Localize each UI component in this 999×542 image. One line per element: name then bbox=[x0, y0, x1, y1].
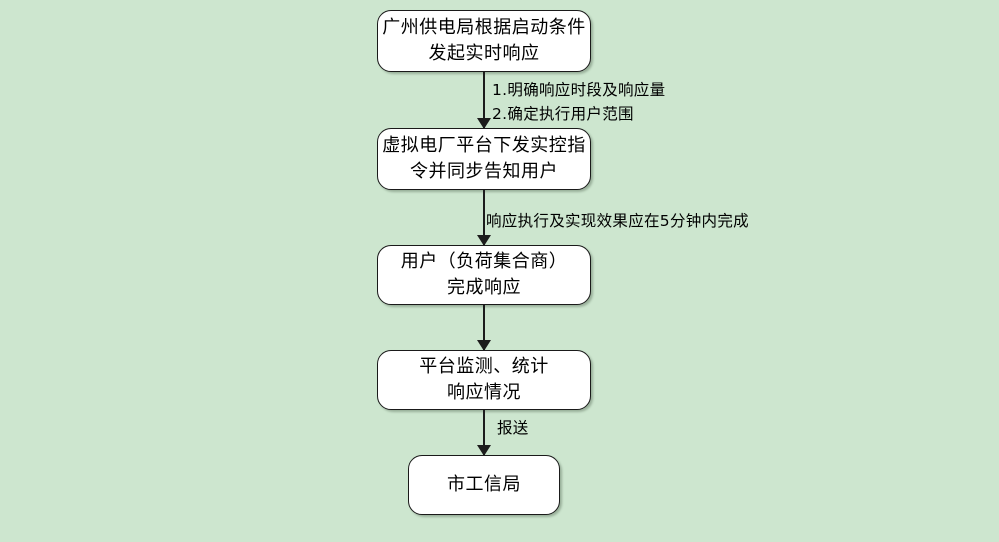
edge-label-line: 1.明确响应时段及响应量 bbox=[492, 81, 665, 99]
process-node-user-completes-response[interactable]: 用户（负荷集合商） 完成响应 bbox=[377, 245, 591, 305]
node-text-line: 发起实时响应 bbox=[429, 41, 540, 67]
node-text-line: 虚拟电厂平台下发实控指 bbox=[382, 133, 586, 159]
node-text-line: 市工信局 bbox=[447, 472, 521, 498]
flowchart-canvas: 广州供电局根据启动条件 发起实时响应 1.明确响应时段及响应量 2.确定执行用户… bbox=[0, 0, 999, 542]
node-text-line: 广州供电局根据启动条件 bbox=[382, 15, 586, 41]
edge-label-requirements: 1.明确响应时段及响应量 2.确定执行用户范围 bbox=[492, 78, 665, 126]
node-text-line: 完成响应 bbox=[447, 275, 521, 301]
process-node-municipal-bureau[interactable]: 市工信局 bbox=[408, 455, 560, 515]
arrow-node2-to-node3 bbox=[483, 190, 485, 245]
edge-label-time-limit: 响应执行及实现效果应在5分钟内完成 bbox=[486, 209, 749, 233]
arrow-node4-to-node5 bbox=[483, 410, 485, 455]
edge-label-report: 报送 bbox=[497, 416, 529, 440]
node-text-line: 平台监测、统计 bbox=[419, 354, 549, 380]
edge-label-line: 报送 bbox=[497, 419, 529, 437]
node-text-line: 响应情况 bbox=[447, 380, 521, 406]
process-node-platform-monitoring[interactable]: 平台监测、统计 响应情况 bbox=[377, 350, 591, 410]
arrow-node3-to-node4 bbox=[483, 305, 485, 350]
edge-label-line: 2.确定执行用户范围 bbox=[492, 105, 634, 123]
process-node-dispatch-command[interactable]: 虚拟电厂平台下发实控指 令并同步告知用户 bbox=[377, 128, 591, 190]
process-node-initiate-response[interactable]: 广州供电局根据启动条件 发起实时响应 bbox=[377, 10, 591, 72]
edge-label-line: 响应执行及实现效果应在5分钟内完成 bbox=[486, 212, 749, 230]
arrow-node1-to-node2 bbox=[483, 72, 485, 128]
node-text-line: 令并同步告知用户 bbox=[410, 159, 558, 185]
node-text-line: 用户（负荷集合商） bbox=[401, 249, 568, 275]
